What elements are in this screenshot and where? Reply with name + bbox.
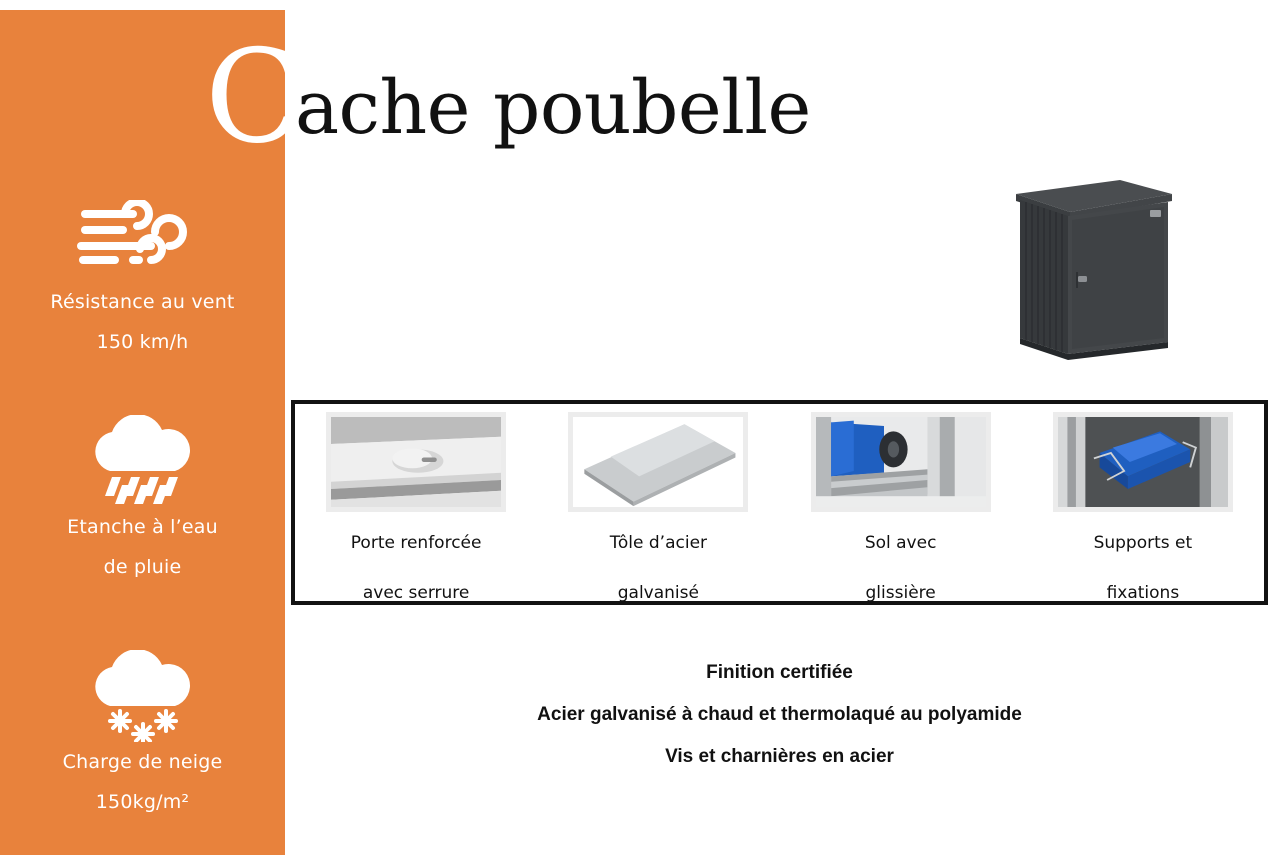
sidebar-feature-wind-label-2: 150 km/h [0,322,285,362]
feature-item-floor-caption-2: glissière [866,574,936,612]
poster-page: Résistance au vent 150 km/h [0,0,1282,855]
feature-item-steel: Tôle d’acier galvanisé [537,404,779,612]
feature-item-steel-caption-2: galvanisé [618,574,699,612]
feature-item-door-caption-2: avec serrure [363,574,470,612]
page-title-rest: ache poubelle [295,53,811,163]
feature-item-door: Porte renforcée avec serrure [295,404,537,612]
door-lock-photo [326,412,506,512]
rain-cloud-icon [0,415,285,507]
finish-note-line-3: Vis et charnières en acier [291,736,1268,778]
sidebar-feature-wind: Résistance au vent 150 km/h [0,190,285,362]
feature-item-brackets: Supports et fixations [1022,404,1264,612]
sidebar-feature-snow-label-2: 150kg/m² [0,782,285,822]
page-title: C ache poubelle [205,35,811,163]
sidebar-feature-rain-label-1: Etanche à l’eau [0,507,285,547]
finish-notes: Finition certifiée Acier galvanisé à cha… [291,652,1268,778]
sidebar-feature-snow: Charge de neige 150kg/m² [0,650,285,822]
finish-note-line-1: Finition certifiée [291,652,1268,694]
sidebar-feature-wind-label-1: Résistance au vent [0,282,285,322]
product-photo [1000,172,1178,372]
feature-highlight-box: Porte renforcée avec serrure Tôle d’acie… [291,400,1268,605]
bin-brackets-photo [1053,412,1233,512]
wind-icon [0,190,285,282]
finish-note-line-2: Acier galvanisé à chaud et thermolaqué a… [291,694,1268,736]
sidebar-feature-rain-label-2: de pluie [0,547,285,587]
feature-item-door-caption-1: Porte renforcée [351,524,482,562]
floor-rail-photo [811,412,991,512]
sidebar-feature-snow-label-1: Charge de neige [0,742,285,782]
feature-item-brackets-caption-2: fixations [1107,574,1180,612]
feature-item-brackets-caption-1: Supports et [1094,524,1193,562]
page-title-dropcap: C [205,43,301,153]
feature-item-floor: Sol avec glissière [780,404,1022,612]
steel-sheet-photo [568,412,748,512]
sidebar-feature-rain: Etanche à l’eau de pluie [0,415,285,587]
snow-cloud-icon [0,650,285,742]
feature-item-steel-caption-1: Tôle d’acier [610,524,707,562]
feature-item-floor-caption-1: Sol avec [865,524,937,562]
